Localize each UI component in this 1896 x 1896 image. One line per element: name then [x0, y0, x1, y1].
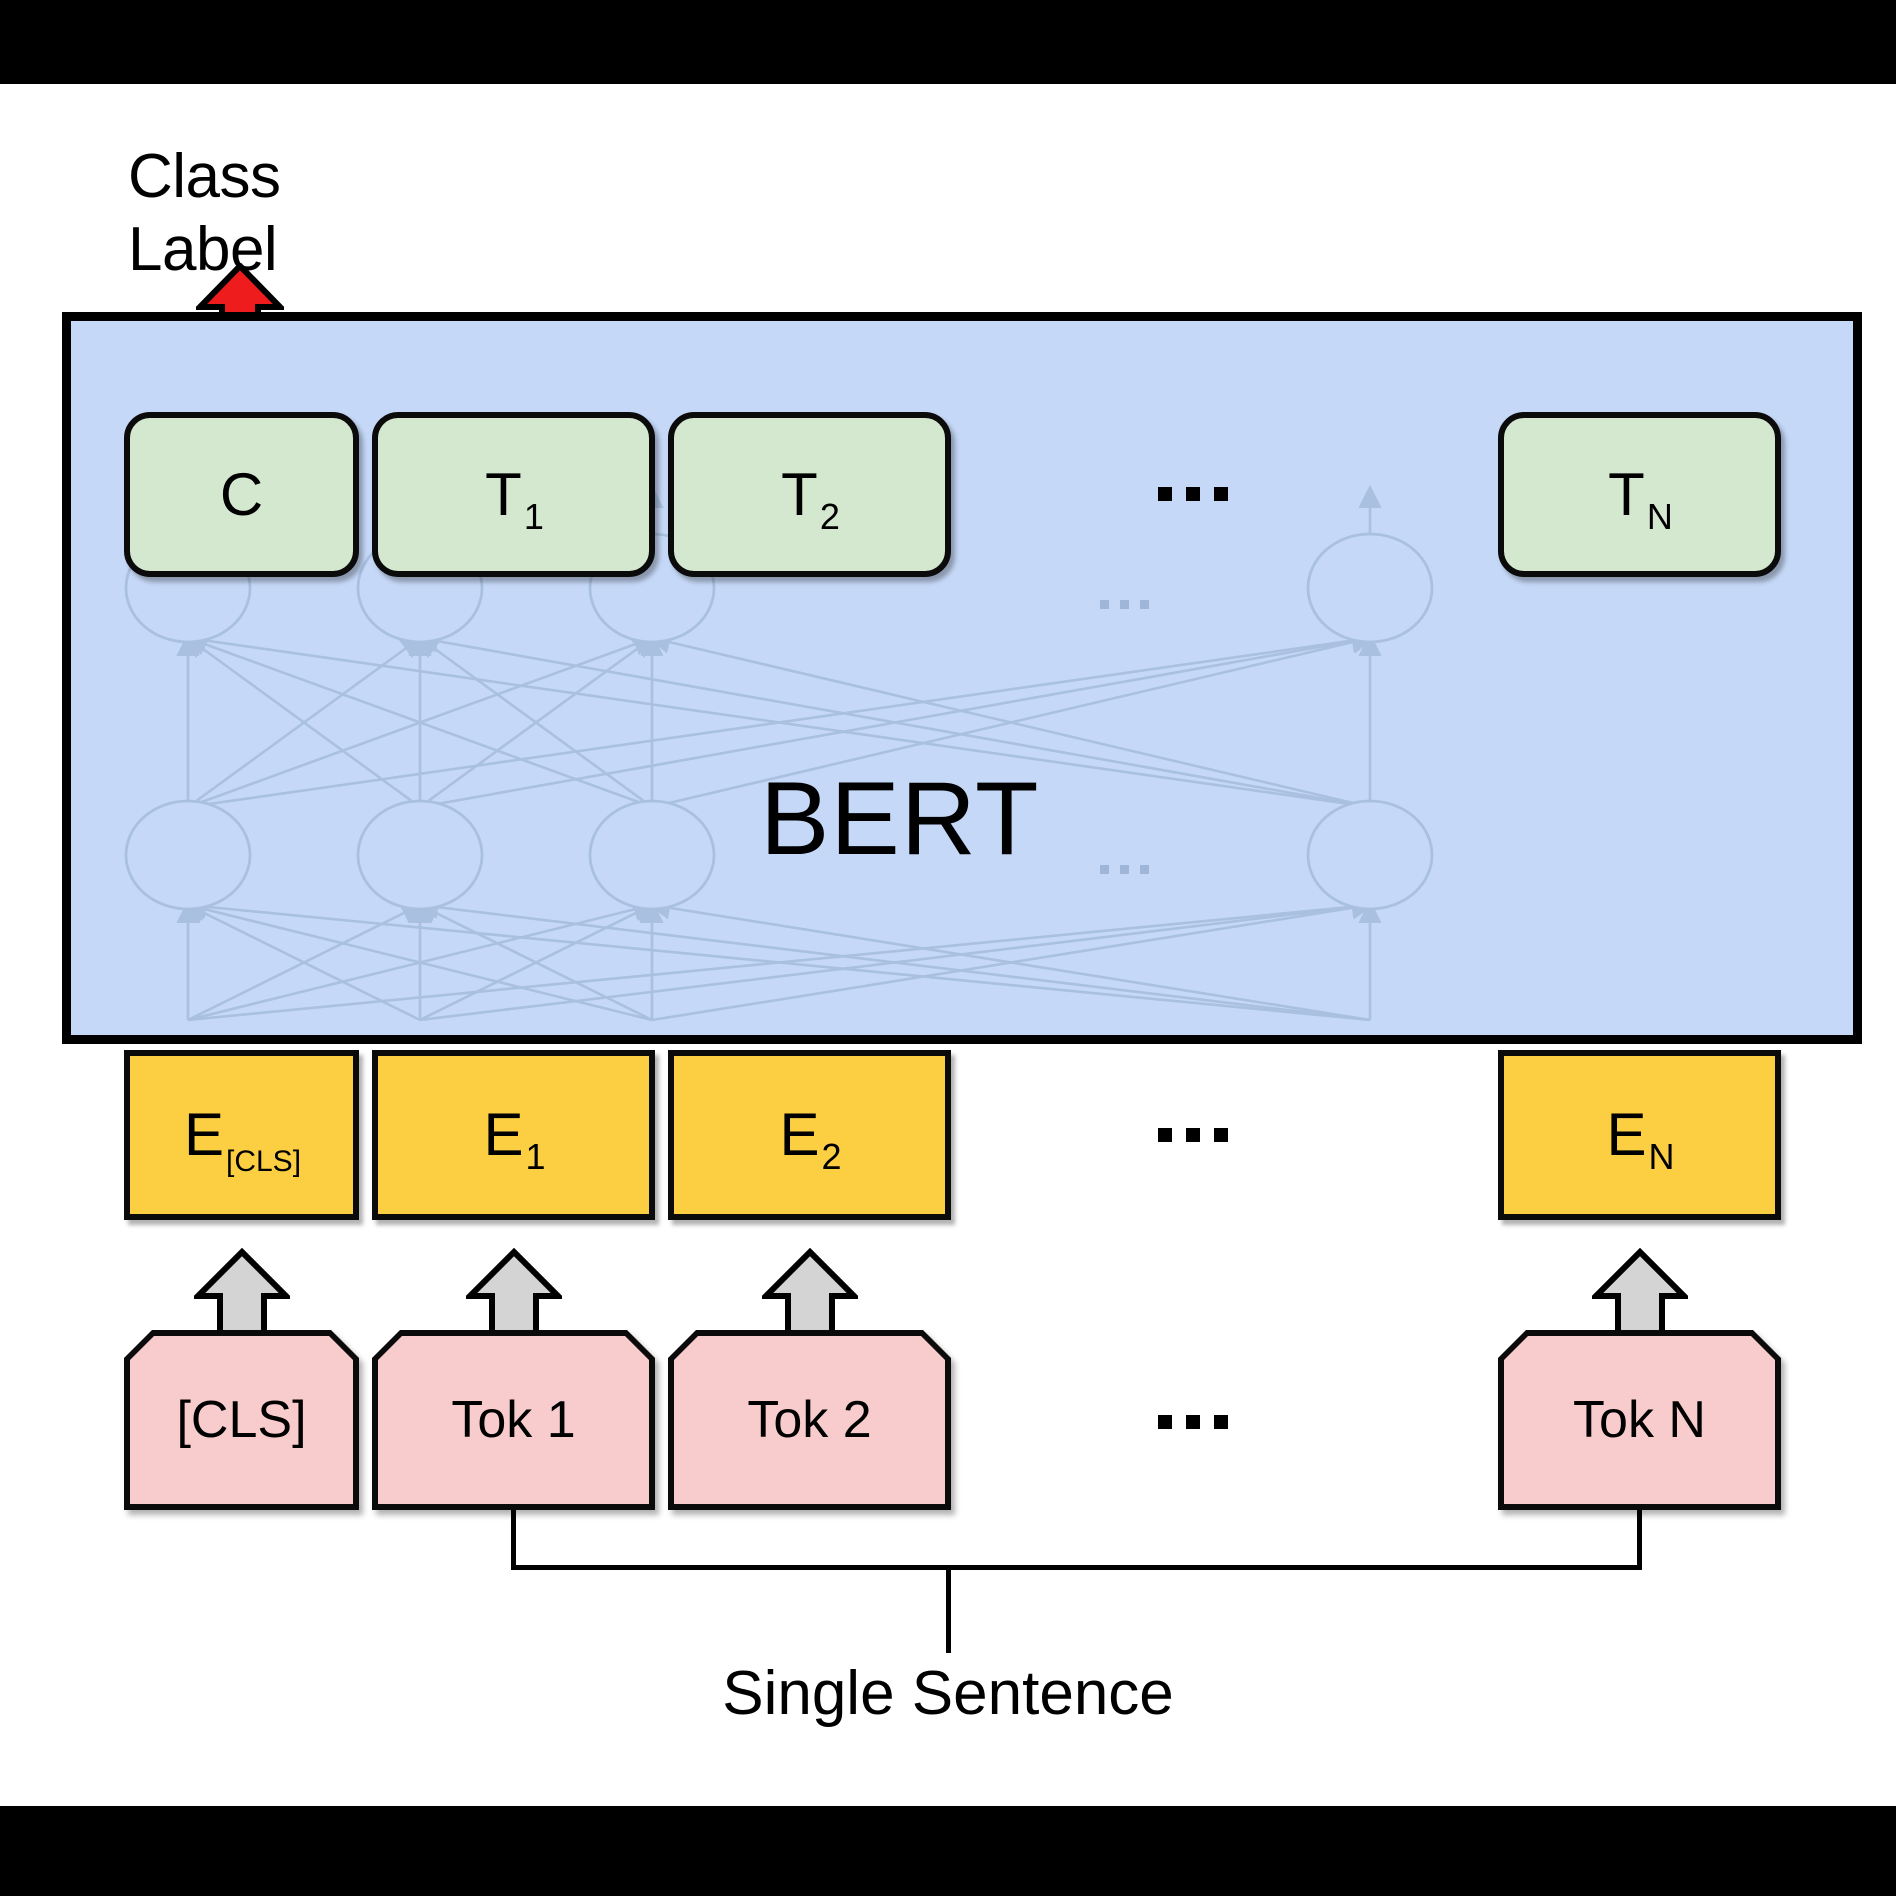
gray-arrow-cls: [194, 1248, 290, 1340]
bracket-stem-left: [511, 1510, 516, 1570]
network-row1-ellipsis: [1100, 600, 1149, 609]
output-label-C: C: [220, 465, 263, 525]
output-row-ellipsis: [1158, 487, 1228, 501]
gray-arrow-tok2: [762, 1248, 858, 1340]
embedding-row-ellipsis: [1158, 1128, 1228, 1142]
figure-canvas: Class Label: [0, 0, 1896, 1896]
embedding-box-E2[interactable]: E2: [668, 1050, 951, 1220]
bert-label: BERT: [760, 760, 1160, 879]
token-label-TOK1: Tok 1: [451, 1390, 575, 1450]
single-sentence-caption: Single Sentence: [0, 1658, 1896, 1729]
token-box-TOK2[interactable]: Tok 2: [668, 1330, 951, 1510]
token-label-TOKN: Tok N: [1573, 1390, 1706, 1450]
token-box-TOKN[interactable]: Tok N: [1498, 1330, 1781, 1510]
embedding-box-E1[interactable]: E1: [372, 1050, 655, 1220]
bracket-drop: [946, 1565, 951, 1653]
token-box-TOK1[interactable]: Tok 1: [372, 1330, 655, 1510]
token-label-CLS: [CLS]: [176, 1390, 306, 1450]
token-row-ellipsis: [1158, 1415, 1228, 1429]
gray-arrow-tokn: [1592, 1248, 1688, 1340]
bracket-horizontal: [511, 1565, 1642, 1570]
token-box-CLS[interactable]: [CLS]: [124, 1330, 359, 1510]
embedding-label-ECLS: E[CLS]: [184, 1105, 299, 1165]
embedding-label-EN: EN: [1606, 1105, 1672, 1165]
embedding-label-E2: E2: [779, 1105, 839, 1165]
embedding-label-E1: E1: [483, 1105, 543, 1165]
output-box-C[interactable]: C: [124, 412, 359, 577]
output-box-T2[interactable]: T2: [668, 412, 951, 577]
output-label-T1: T1: [485, 465, 542, 525]
gray-arrow-tok1: [466, 1248, 562, 1340]
output-label-T2: T2: [781, 465, 838, 525]
bracket-stem-right: [1637, 1510, 1642, 1570]
embedding-box-ECLS[interactable]: E[CLS]: [124, 1050, 359, 1220]
class-label-text: Class Label: [128, 140, 548, 286]
output-box-TN[interactable]: TN: [1498, 412, 1781, 577]
token-label-TOK2: Tok 2: [747, 1390, 871, 1450]
output-label-TN: TN: [1608, 465, 1671, 525]
embedding-box-EN[interactable]: EN: [1498, 1050, 1781, 1220]
output-box-T1[interactable]: T1: [372, 412, 655, 577]
